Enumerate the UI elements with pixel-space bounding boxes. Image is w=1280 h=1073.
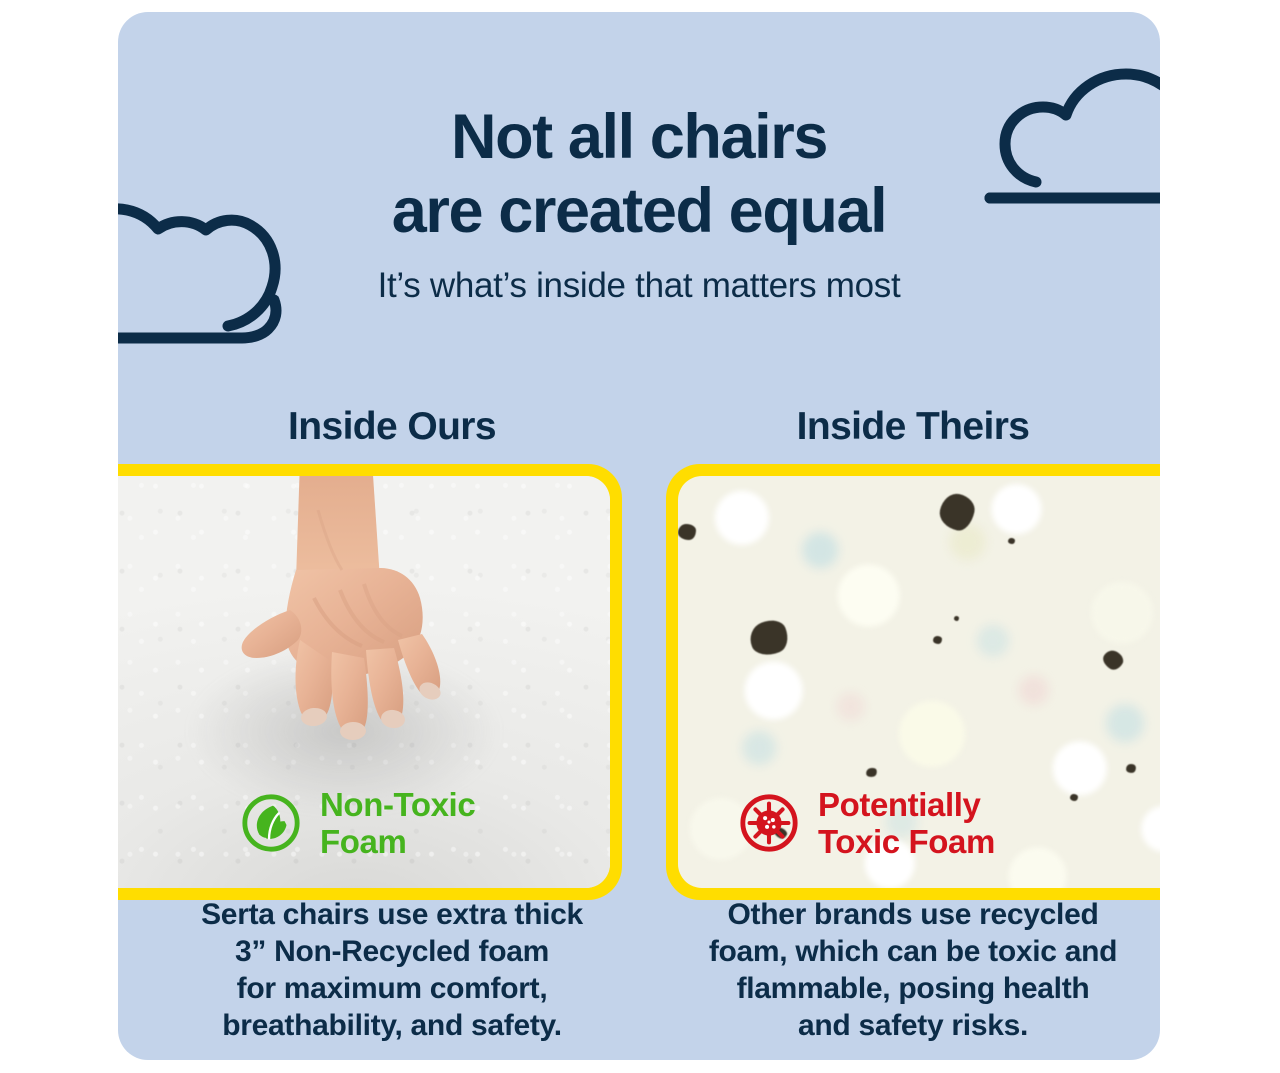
- badge-non-toxic: Non-Toxic Foam: [240, 786, 475, 860]
- page-title: Not all chairs are created equal: [118, 100, 1160, 248]
- debris-speck: [933, 636, 942, 644]
- infographic-stage: Not all chairs are created equal It’s wh…: [0, 0, 1280, 1073]
- column-heading-ours: Inside Ours: [118, 403, 666, 451]
- headline-line-2: are created equal: [118, 174, 1160, 248]
- debris-speck: [954, 616, 959, 621]
- page-subtitle: It’s what’s inside that matters most: [118, 264, 1160, 308]
- leaf-icon: [240, 792, 302, 854]
- column-heading-theirs: Inside Theirs: [666, 403, 1160, 451]
- germ-icon: [738, 792, 800, 854]
- caption-ours: Serta chairs use extra thick 3” Non-Recy…: [118, 896, 666, 1044]
- comparison-card-theirs: Potentially Toxic Foam: [666, 464, 1160, 900]
- debris-speck: [1070, 794, 1078, 801]
- card-image-ours: Non-Toxic Foam: [118, 476, 610, 888]
- card-image-theirs: Potentially Toxic Foam: [678, 476, 1160, 888]
- comparison-card-ours: Non-Toxic Foam: [118, 464, 622, 900]
- headline-line-1: Not all chairs: [118, 100, 1160, 174]
- badge-potentially-toxic: Potentially Toxic Foam: [738, 786, 995, 860]
- badge-label-non-toxic: Non-Toxic Foam: [320, 786, 475, 860]
- badge-label-potentially-toxic: Potentially Toxic Foam: [818, 786, 995, 860]
- caption-theirs: Other brands use recycled foam, which ca…: [666, 896, 1160, 1044]
- infographic-panel: Not all chairs are created equal It’s wh…: [118, 12, 1160, 1060]
- debris-speck: [678, 524, 696, 540]
- hand-photo: [222, 476, 472, 770]
- debris-speck: [1008, 538, 1015, 544]
